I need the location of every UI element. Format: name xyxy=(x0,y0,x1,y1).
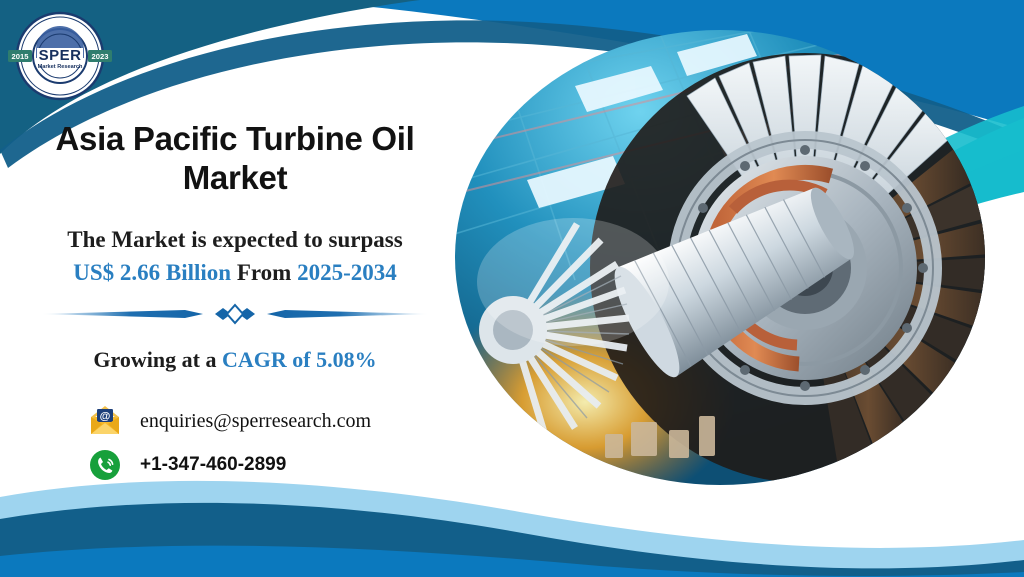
contact-row-email[interactable]: @ enquiries@sperresearch.com xyxy=(88,399,470,443)
subtitle-connector: From xyxy=(237,260,292,285)
svg-text:@: @ xyxy=(100,411,111,423)
subtitle-line-2: US$ 2.66 Billion From 2025-2034 xyxy=(0,257,470,290)
cagr-value: CAGR of 5.08% xyxy=(222,347,377,372)
logo-year-to-badge: 2023 xyxy=(88,50,112,62)
decorative-divider-wrapper xyxy=(0,303,470,325)
cagr-prefix: Growing at a xyxy=(93,347,216,372)
logo-year-from-badge: 2015 xyxy=(8,50,32,62)
email-icon: @ xyxy=(88,404,122,438)
logo-year-to: 2023 xyxy=(92,52,109,61)
forecast-period: 2025-2034 xyxy=(297,260,397,285)
sper-logo: EIGHT YEARS ANNIVERSARY CELEBRATING EXCE… xyxy=(6,2,114,110)
contact-list: @ enquiries@sperresearch.com +1-347-460 xyxy=(0,399,470,487)
subtitle-block: The Market is expected to surpass US$ 2.… xyxy=(0,224,470,289)
text-content: Asia Pacific Turbine Oil Market The Mark… xyxy=(0,120,470,487)
email-text: enquiries@sperresearch.com xyxy=(140,410,371,433)
turbine-photo xyxy=(455,30,985,485)
logo-bottom-arc-text: CELEBRATING EXCELLENCE xyxy=(6,2,114,4)
market-value: US$ 2.66 Billion xyxy=(73,260,231,285)
logo-brand-sub: Market Research xyxy=(38,64,83,70)
page-title: Asia Pacific Turbine Oil Market xyxy=(0,120,470,198)
subtitle-line-1: The Market is expected to surpass xyxy=(0,224,470,257)
cagr-line: Growing at a CAGR of 5.08% xyxy=(0,347,470,373)
phone-text: +1-347-460-2899 xyxy=(140,454,286,476)
promo-banner: EIGHT YEARS ANNIVERSARY CELEBRATING EXCE… xyxy=(0,0,1024,577)
logo-year-from: 2015 xyxy=(12,52,30,61)
contact-row-phone[interactable]: +1-347-460-2899 xyxy=(88,443,470,487)
ornament-divider-icon xyxy=(35,303,435,325)
logo-brand: SPER xyxy=(39,47,82,64)
phone-icon xyxy=(88,448,122,482)
